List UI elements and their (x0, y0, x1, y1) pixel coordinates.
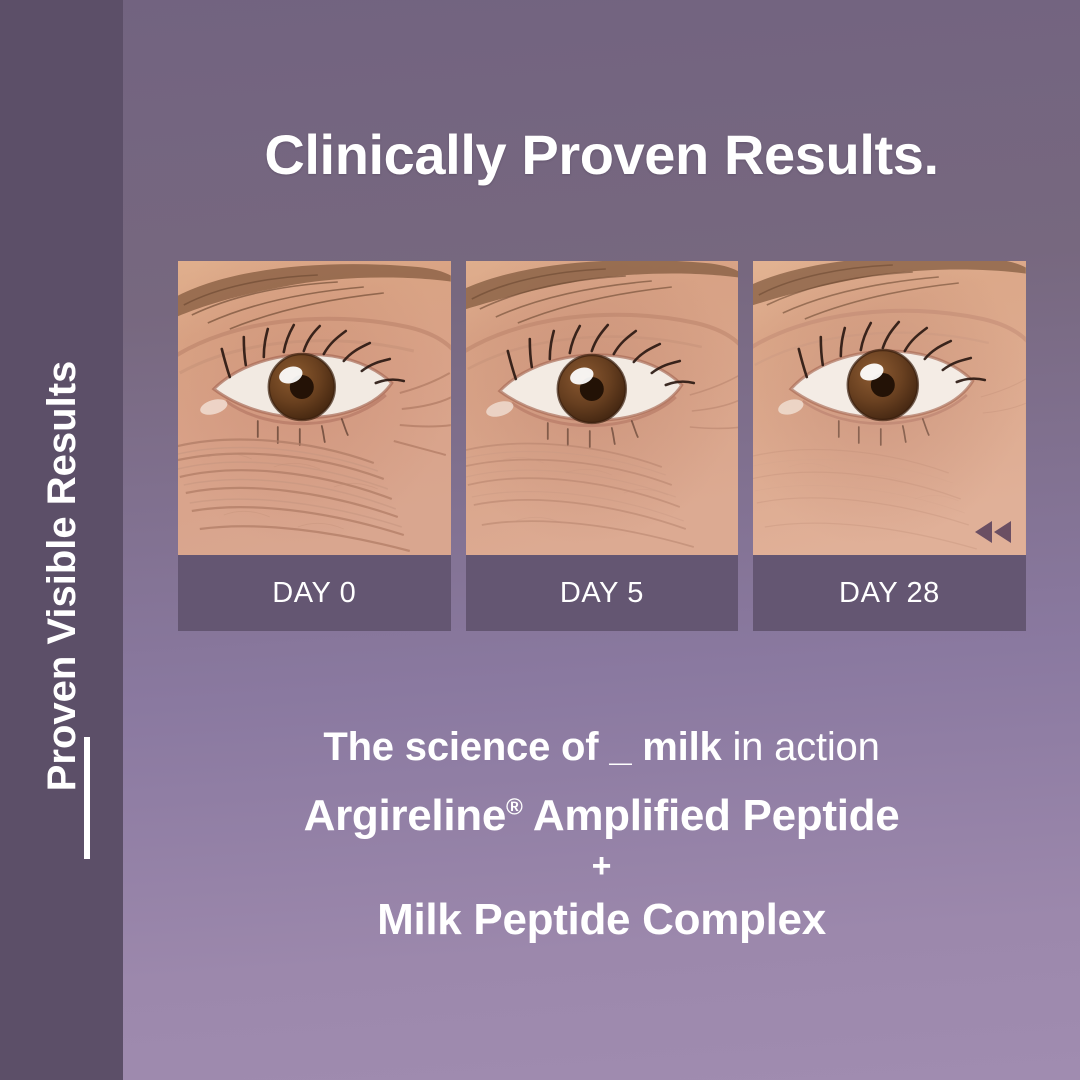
argireline-name: Argireline (304, 791, 506, 840)
ingredient-copy-block: The science of _ milk in action Argireli… (123, 722, 1080, 947)
copy-line-science: The science of _ milk in action (123, 722, 1080, 772)
copy-line-science-regular: in action (722, 725, 880, 769)
argireline-descriptor: Amplified Peptide (523, 791, 900, 840)
sidebar: Proven Visible Results (0, 0, 123, 1080)
comparison-panel-day-5[interactable]: DAY 5 (466, 261, 739, 631)
sidebar-vertical-label-wrap: Proven Visible Results (34, 296, 90, 856)
eye-photo-day-5 (466, 261, 739, 555)
comparison-strip: DAY 0 (178, 261, 1026, 631)
promo-canvas: Proven Visible Results Clinically Proven… (0, 0, 1080, 1080)
copy-line-science-bold: The science of _ milk (323, 725, 721, 769)
comparison-panel-day-0[interactable]: DAY 0 (178, 261, 451, 631)
copy-line-milk-peptide: Milk Peptide Complex (123, 894, 1080, 947)
eye-photo-day-0 (178, 261, 451, 555)
panel-caption-day-28: DAY 28 (753, 555, 1026, 631)
page-title: Clinically Proven Results. (123, 126, 1080, 185)
copy-line-plus: + (123, 847, 1080, 886)
sidebar-vertical-label: Proven Visible Results (42, 361, 82, 792)
eye-photo-day-28 (753, 261, 1026, 555)
registered-trademark-mark: ® (506, 793, 523, 819)
comparison-panel-day-28[interactable]: DAY 28 (753, 261, 1026, 631)
panel-caption-day-0: DAY 0 (178, 555, 451, 631)
rewind-icon[interactable] (972, 519, 1014, 545)
panel-caption-day-5: DAY 5 (466, 555, 739, 631)
copy-line-argireline: Argireline® Amplified Peptide (123, 790, 1080, 843)
sidebar-underline-rule (84, 737, 90, 859)
